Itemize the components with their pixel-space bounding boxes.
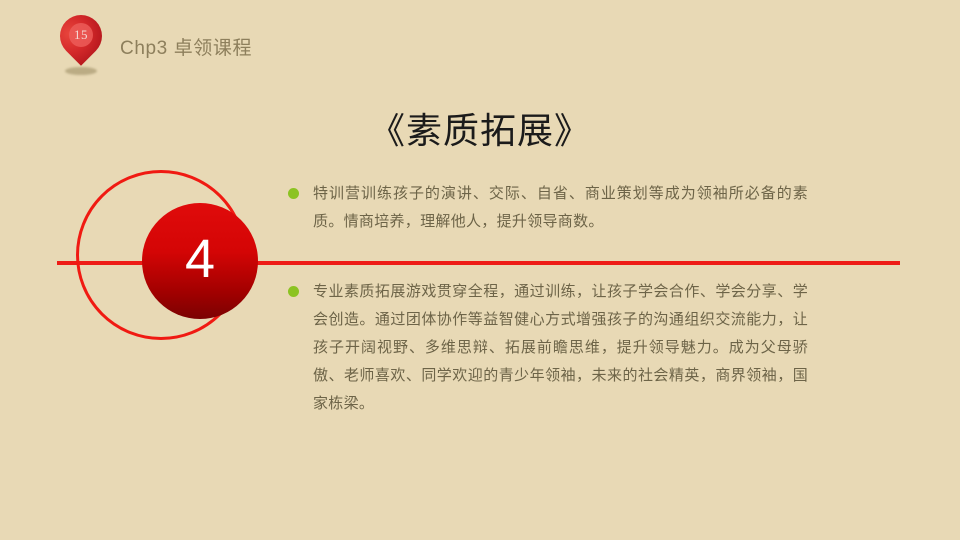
bullet-dot-icon	[288, 286, 299, 297]
map-pin-shape: 15	[60, 15, 102, 71]
slide-header: 15 Chp3 卓领课程	[58, 22, 252, 70]
list-item: 专业素质拓展游戏贯穿全程，通过训练，让孩子学会合作、学会分享、学会创造。通过团体…	[288, 278, 808, 418]
list-item: 特训营训练孩子的演讲、交际、自省、商业策划等成为领袖所必备的素质。情商培养，理解…	[288, 180, 808, 236]
slide-canvas: 15 Chp3 卓领课程 《素质拓展》 4 特训营训练孩子的演讲、交际、自省、商…	[0, 0, 960, 540]
badge-disc: 4	[142, 203, 258, 319]
bullet-list: 特训营训练孩子的演讲、交际、自省、商业策划等成为领袖所必备的素质。情商培养，理解…	[288, 180, 808, 418]
bullet-text: 专业素质拓展游戏贯穿全程，通过训练，让孩子学会合作、学会分享、学会创造。通过团体…	[313, 278, 808, 418]
bullet-text: 特训营训练孩子的演讲、交际、自省、商业策划等成为领袖所必备的素质。情商培养，理解…	[313, 180, 808, 236]
page-number-badge: 15	[69, 23, 93, 47]
bullet-dot-icon	[288, 188, 299, 199]
header-title: Chp3 卓领课程	[120, 33, 252, 60]
map-pin-icon: 15	[58, 15, 104, 77]
section-number-badge: 4	[76, 170, 262, 356]
page-title: 《素质拓展》	[0, 102, 960, 154]
badge-number-label: 4	[142, 203, 258, 319]
